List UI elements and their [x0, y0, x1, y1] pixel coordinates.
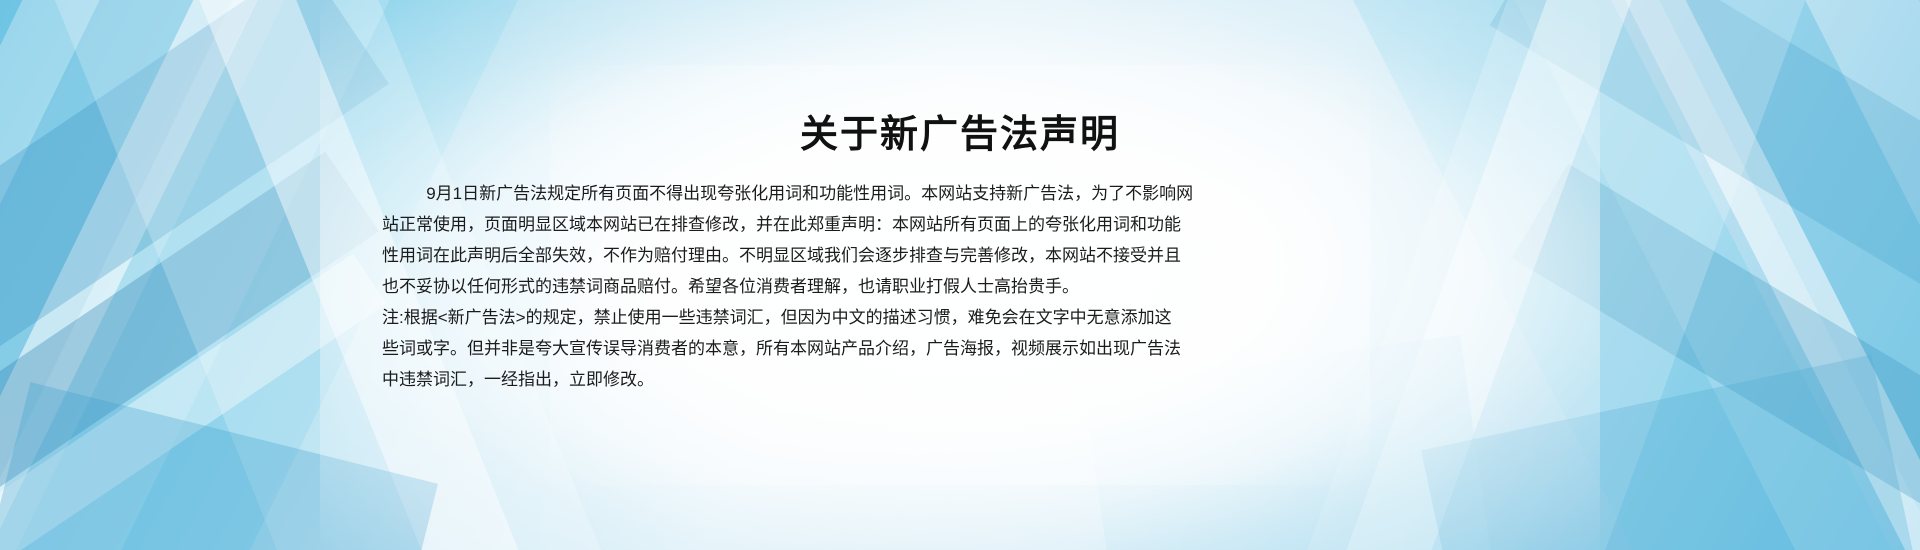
statement-line: 注:根据<新广告法>的规定，禁止使用一些违禁词汇，但因为中文的描述习惯，难免会在…	[382, 302, 1182, 333]
statement-paragraph-note: 注:根据<新广告法>的规定，禁止使用一些违禁词汇，但因为中文的描述习惯，难免会在…	[382, 302, 1182, 395]
statement-line: 也不妥协以任何形式的违禁词商品赔付。希望各位消费者理解，也请职业打假人士高抬贵手…	[382, 271, 1182, 302]
statement-line: 性用词在此声明后全部失效，不作为赔付理由。不明显区域我们会逐步排查与完善修改，本…	[382, 240, 1182, 271]
statement-paragraph-main: 9月1日新广告法规定所有页面不得出现夸张化用词和功能性用词。本网站支持新广告法，…	[382, 178, 1182, 302]
page-title: 关于新广告法声明	[0, 115, 1920, 157]
statement-line: 些词或字。但并非是夸大宣传误导消费者的本意，所有本网站产品介绍，广告海报，视频展…	[382, 333, 1182, 364]
statement-line: 中违禁词汇，一经指出，立即修改。	[382, 364, 1182, 395]
statement-line: 站正常使用，页面明显区域本网站已在排查修改，并在此郑重声明：本网站所有页面上的夸…	[382, 209, 1182, 240]
advertising-law-statement-banner: 关于新广告法声明 9月1日新广告法规定所有页面不得出现夸张化用词和功能性用词。本…	[0, 0, 1920, 550]
statement-content: 关于新广告法声明 9月1日新广告法规定所有页面不得出现夸张化用词和功能性用词。本…	[0, 0, 1920, 550]
statement-body: 9月1日新广告法规定所有页面不得出现夸张化用词和功能性用词。本网站支持新广告法，…	[382, 178, 1182, 395]
statement-line: 9月1日新广告法规定所有页面不得出现夸张化用词和功能性用词。本网站支持新广告法，…	[382, 178, 1182, 209]
